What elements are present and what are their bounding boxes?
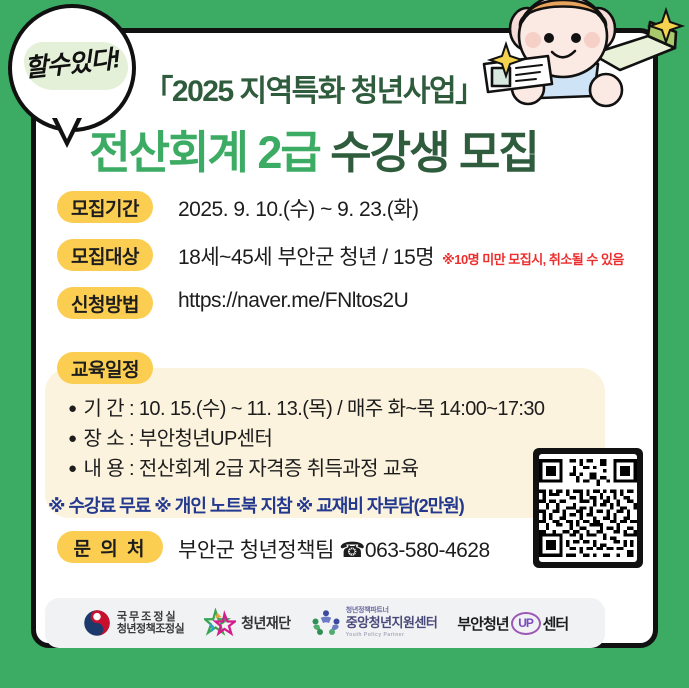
education-item-text: 기 간 : 10. 15.(수) ~ 11. 13.(목) / 매주 화~목 1… <box>83 398 544 420</box>
partner-logo-strip: 국 무 조 정 실 청년정책조정실 청년재단 <box>45 598 605 648</box>
value-application-url[interactable]: https://naver.me/FNltos2U <box>178 289 408 313</box>
speech-bubble: 할수있다! <box>8 4 136 132</box>
bullet-icon: ● <box>68 400 76 417</box>
poster-root: 할수있다! <box>0 0 689 688</box>
logo-office-for-government-policy-coordination: 국 무 조 정 실 청년정책조정실 <box>82 608 184 638</box>
label-pill-recruit-target: 모집대상 <box>57 239 153 271</box>
bubble-tail-fill <box>56 116 78 139</box>
info-row: 모집기간 2025. 9. 10.(수) ~ 9. 23.(화) <box>30 185 630 233</box>
logo-line1: 중앙청년지원센터 <box>346 617 438 629</box>
qr-code[interactable] <box>533 448 643 568</box>
logo-label: 청년정책파트너 중앙청년지원센터 Youth Policy Partner <box>346 605 438 641</box>
bullet-icon: ● <box>68 430 76 447</box>
label-pill-application-method: 신청방법 <box>57 287 153 319</box>
logo-label: 청년재단 <box>241 617 291 629</box>
bullet-icon: ● <box>68 460 76 477</box>
education-note: ※ 수강료 무료 ※ 개인 노트북 지참 ※ 교재비 자부담(2만원) <box>48 492 464 518</box>
logo-line2: 청년정책조정실 <box>117 623 184 635</box>
value-recruit-target: 18세~45세 부안군 청년 / 15명※10명 미만 모집시, 취소될 수 있… <box>178 241 624 271</box>
education-item-list: ●기 간 : 10. 15.(수) ~ 11. 13.(목) / 매주 화~목 … <box>68 394 608 484</box>
logo-buan-youth-up-center: 부안청년 UP 센터 <box>457 612 568 635</box>
label-pill-recruit-period: 모집기간 <box>57 191 153 223</box>
value-contact: 부안군 청년정책팀 ☎063-580-4628 <box>178 534 490 564</box>
education-item: ●장 소 : 부안청년UP센터 <box>68 424 608 454</box>
title-part-course: 전산회계 2급 <box>89 127 320 178</box>
logo-line1: 국 무 조 정 실 <box>117 611 175 623</box>
logo-sub: Youth Policy Partner <box>346 629 438 641</box>
education-item-text: 장 소 : 부안청년UP센터 <box>83 428 272 450</box>
label-pill-education-schedule: 교육일정 <box>57 352 153 384</box>
logo-label: 국 무 조 정 실 청년정책조정실 <box>117 611 184 635</box>
logo-youth-foundation: 청년재단 <box>204 608 291 638</box>
taegeuk-icon <box>82 608 112 638</box>
label-pill-contact: 문 의 처 <box>57 531 163 563</box>
logo-prefix: 부안청년 <box>457 613 508 634</box>
value-text: https://naver.me/FNltos2U <box>178 289 408 312</box>
info-row: 신청방법 https://naver.me/FNltos2U <box>30 281 630 329</box>
info-rows: 모집기간 2025. 9. 10.(수) ~ 9. 23.(화) 모집대상 18… <box>30 185 630 329</box>
note-cancellation: ※10명 미만 모집시, 취소될 수 있음 <box>442 252 624 267</box>
up-mark-icon: UP <box>511 612 541 635</box>
value-text: 2025. 9. 10.(수) ~ 9. 23.(화) <box>178 198 419 221</box>
people-circle-icon <box>311 608 341 638</box>
value-recruit-period: 2025. 9. 10.(수) ~ 9. 23.(화) <box>178 193 419 223</box>
education-item: ●내 용 : 전산회계 2급 자격증 취득과정 교육 <box>68 454 608 484</box>
logo-central-youth-support-center: 청년정책파트너 중앙청년지원센터 Youth Policy Partner <box>311 605 438 641</box>
info-row: 모집대상 18세~45세 부안군 청년 / 15명※10명 미만 모집시, 취소… <box>30 233 630 281</box>
star-icon <box>204 608 236 638</box>
logo-suffix: 센터 <box>543 613 569 634</box>
education-item: ●기 간 : 10. 15.(수) ~ 11. 13.(목) / 매주 화~목 … <box>68 394 608 424</box>
student-character-illustration <box>470 0 689 142</box>
education-item-text: 내 용 : 전산회계 2급 자격증 취득과정 교육 <box>83 458 418 480</box>
value-text: 18세~45세 부안군 청년 / 15명 <box>178 246 434 269</box>
qr-code-pattern <box>539 454 637 562</box>
